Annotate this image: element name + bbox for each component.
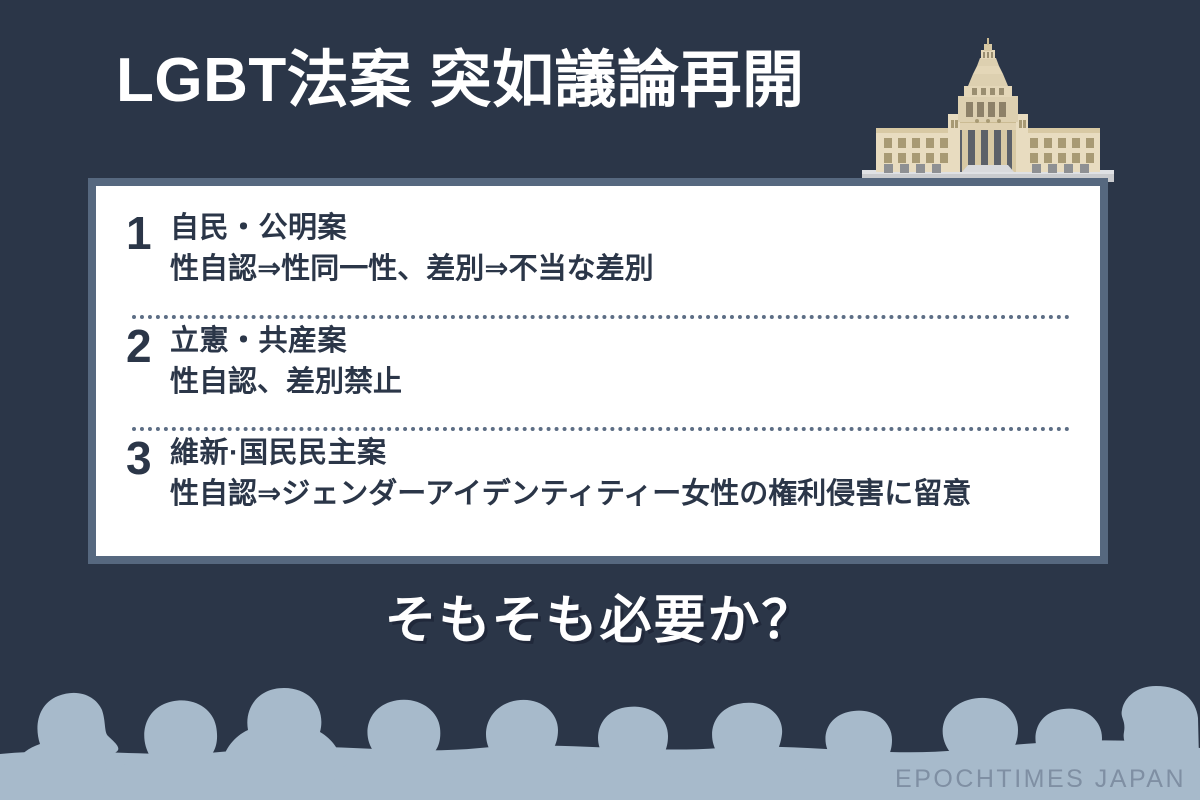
item-text: 立憲・共産案 性自認、差別禁止 (170, 321, 1074, 403)
item-divider (132, 427, 1070, 431)
item-number: 1 (126, 208, 170, 256)
item-divider (132, 315, 1070, 319)
item-detail: 性自認、差別禁止 (170, 362, 1074, 403)
national-diet-building-icon (862, 22, 1114, 182)
item-detail: 性自認⇒ジェンダーアイデンティティー女性の権利侵害に留意 (170, 474, 1074, 515)
list-item: 2 立憲・共産案 性自認、差別禁止 (126, 321, 1074, 426)
item-number: 3 (126, 433, 170, 481)
item-heading: 立憲・共産案 (170, 321, 1074, 362)
infographic-root: LGBT法案 突如議論再開 (0, 0, 1200, 800)
item-text: 自民・公明案 性自認⇒性同一性、差別⇒不当な差別 (170, 208, 1074, 290)
policy-comparison-panel: 1 自民・公明案 性自認⇒性同一性、差別⇒不当な差別 2 立憲・共産案 性自認、… (96, 186, 1100, 556)
item-detail: 性自認⇒性同一性、差別⇒不当な差別 (170, 249, 1074, 290)
item-number: 2 (126, 321, 170, 369)
page-title: LGBT法案 突如議論再開 (116, 46, 804, 115)
item-text: 維新·国民民主案 性自認⇒ジェンダーアイデンティティー女性の権利侵害に留意 (170, 433, 1074, 515)
list-item: 3 維新·国民民主案 性自認⇒ジェンダーアイデンティティー女性の権利侵害に留意 (126, 433, 1074, 538)
list-item: 1 自民・公明案 性自認⇒性同一性、差別⇒不当な差別 (126, 208, 1074, 313)
item-heading: 自民・公明案 (170, 208, 1074, 249)
item-heading: 維新·国民民主案 (170, 433, 1074, 474)
watermark-logo: EPOCHTIMES JAPAN (895, 765, 1186, 794)
policy-comparison-box: 1 自民・公明案 性自認⇒性同一性、差別⇒不当な差別 2 立憲・共産案 性自認、… (88, 178, 1108, 564)
